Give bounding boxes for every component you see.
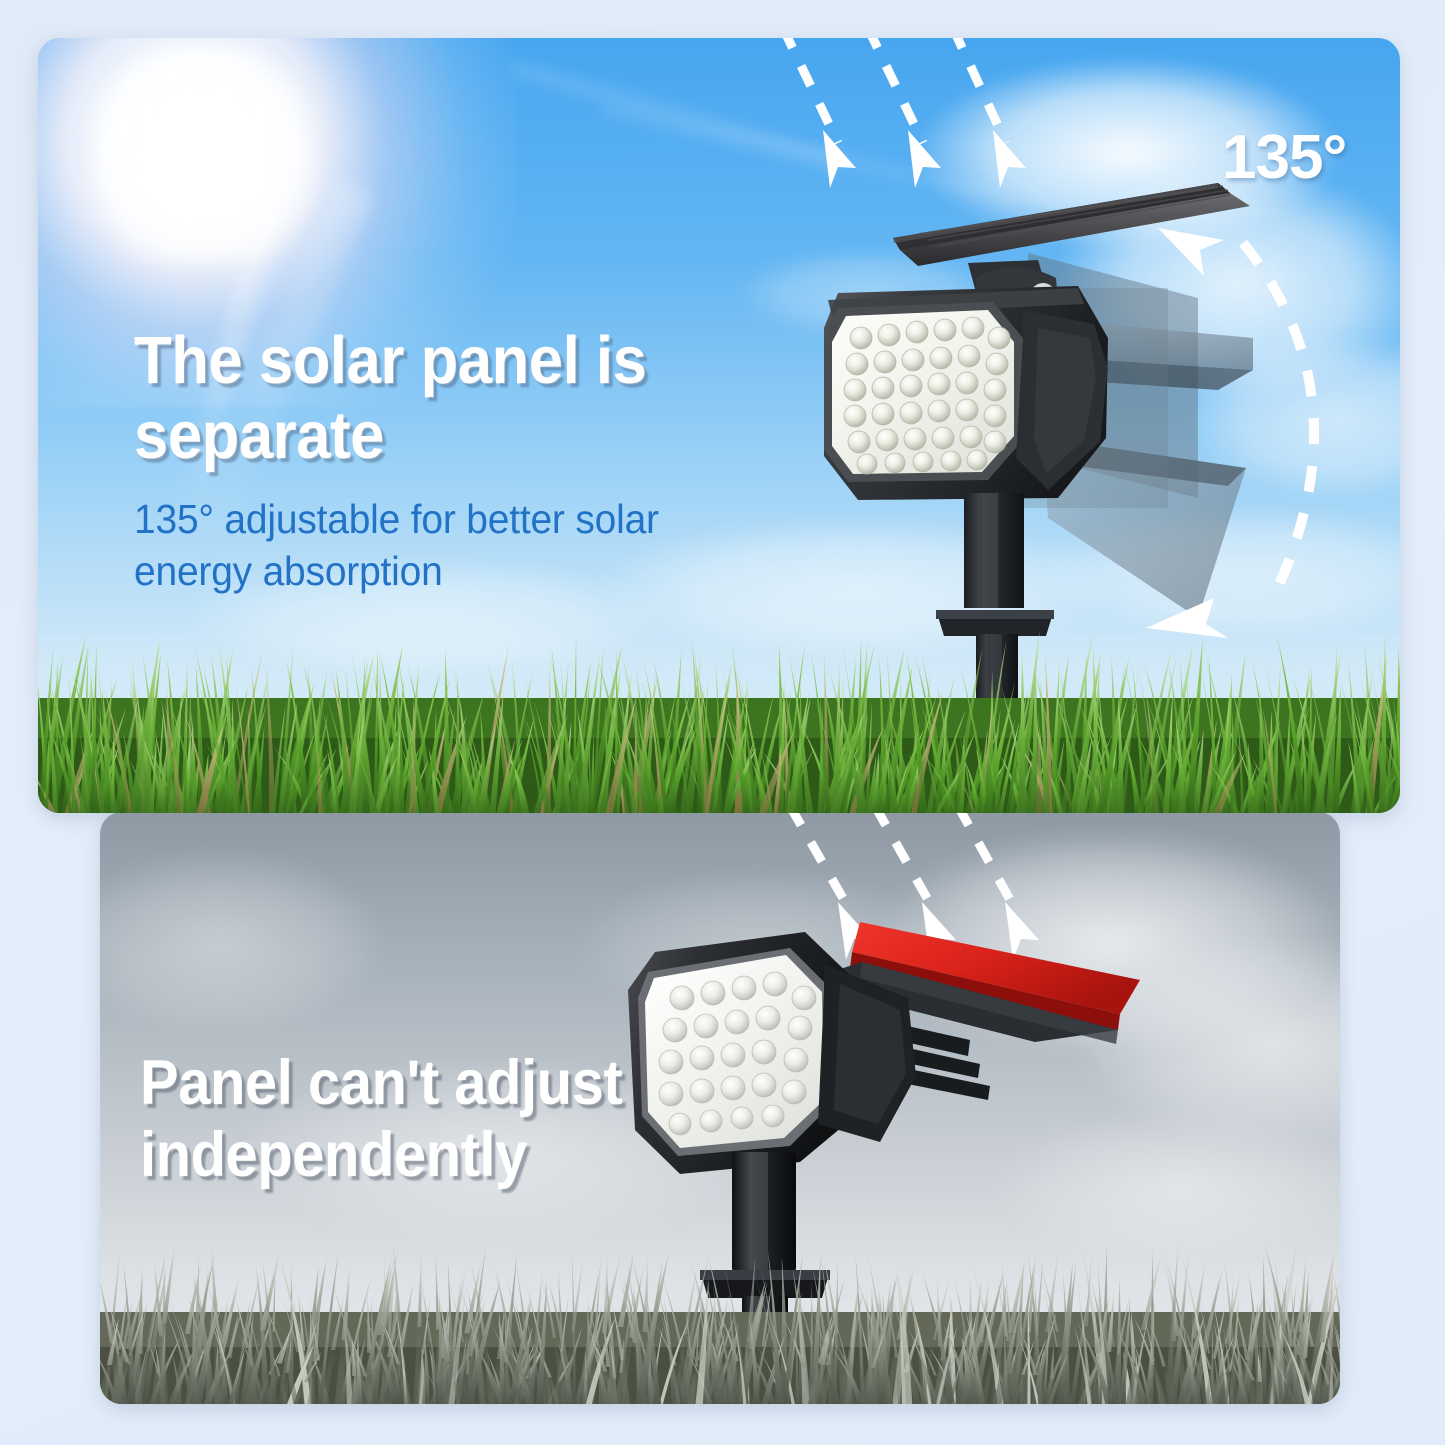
led-head — [824, 286, 1108, 500]
cloud — [880, 832, 1340, 1052]
sun-ray-arrow-head — [838, 902, 1039, 960]
cloud — [1188, 338, 1400, 498]
cloud — [100, 852, 380, 1032]
soil — [100, 1326, 1340, 1404]
lens-flare — [599, 104, 1013, 207]
cloud — [1058, 168, 1400, 398]
grass-band-grey — [100, 1204, 1340, 1404]
grass-band-green — [38, 603, 1400, 813]
sun-ray-arrow-icon — [790, 812, 1018, 914]
bottom-headline: Panel can't adjust independently — [140, 1048, 766, 1192]
arc-arrow-up-icon — [1158, 228, 1224, 276]
cloud — [1080, 942, 1340, 1142]
soil — [38, 735, 1400, 813]
top-comparison-card: The solar panel is separate 135° adjusta… — [38, 38, 1400, 813]
sun-core — [88, 48, 318, 263]
angle-badge: 135° — [1222, 122, 1346, 193]
led-array — [844, 317, 1010, 474]
fixed-solar-panel — [800, 922, 1140, 1044]
cloud — [580, 872, 940, 1022]
solar-panel — [893, 183, 1250, 266]
rotation-arc-icon — [1243, 243, 1314, 598]
panel-hinge — [968, 260, 1060, 328]
sun-ray-arrow-icon — [783, 38, 1006, 143]
ghost-panel-positions — [993, 253, 1253, 618]
infographic-page: The solar panel is separate 135° adjusta… — [0, 0, 1445, 1445]
top-subtitle: 135° adjustable for better solar energy … — [134, 493, 761, 598]
cloud — [738, 248, 998, 338]
top-headline: The solar panel is separate — [134, 323, 741, 473]
heatsink-fins — [798, 1002, 990, 1100]
